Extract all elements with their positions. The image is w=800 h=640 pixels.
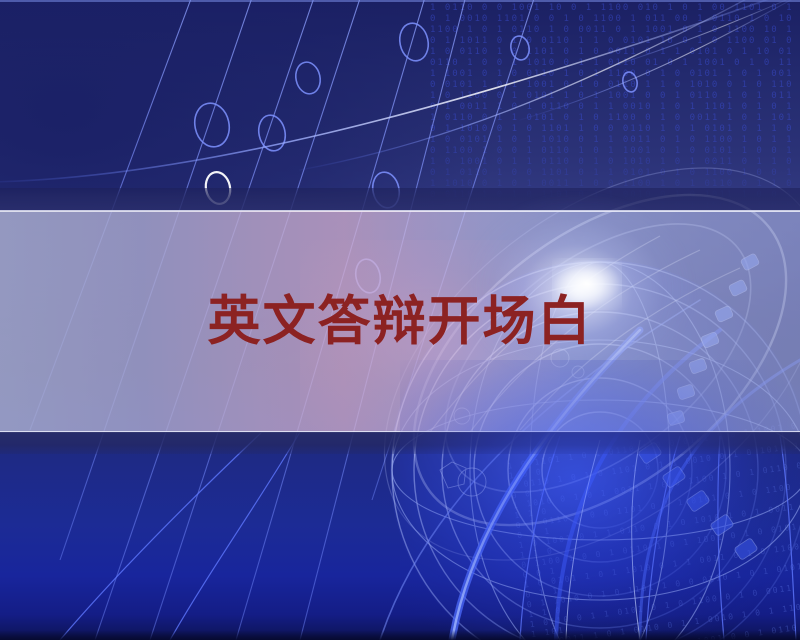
- bottom-edge-shadow: [0, 630, 800, 640]
- upper-dark-strip: [0, 188, 800, 211]
- title-banner: 01001 0 110 0010 1 0 0110 00 101 1 0 001…: [0, 0, 800, 640]
- lower-dark-strip: [0, 432, 800, 454]
- page-title: 英文答辩开场白: [208, 295, 593, 348]
- glowing-arcs-top: [0, 0, 800, 182]
- title-container: 英文答辩开场白: [0, 211, 800, 432]
- top-edge-highlight: [0, 0, 800, 2]
